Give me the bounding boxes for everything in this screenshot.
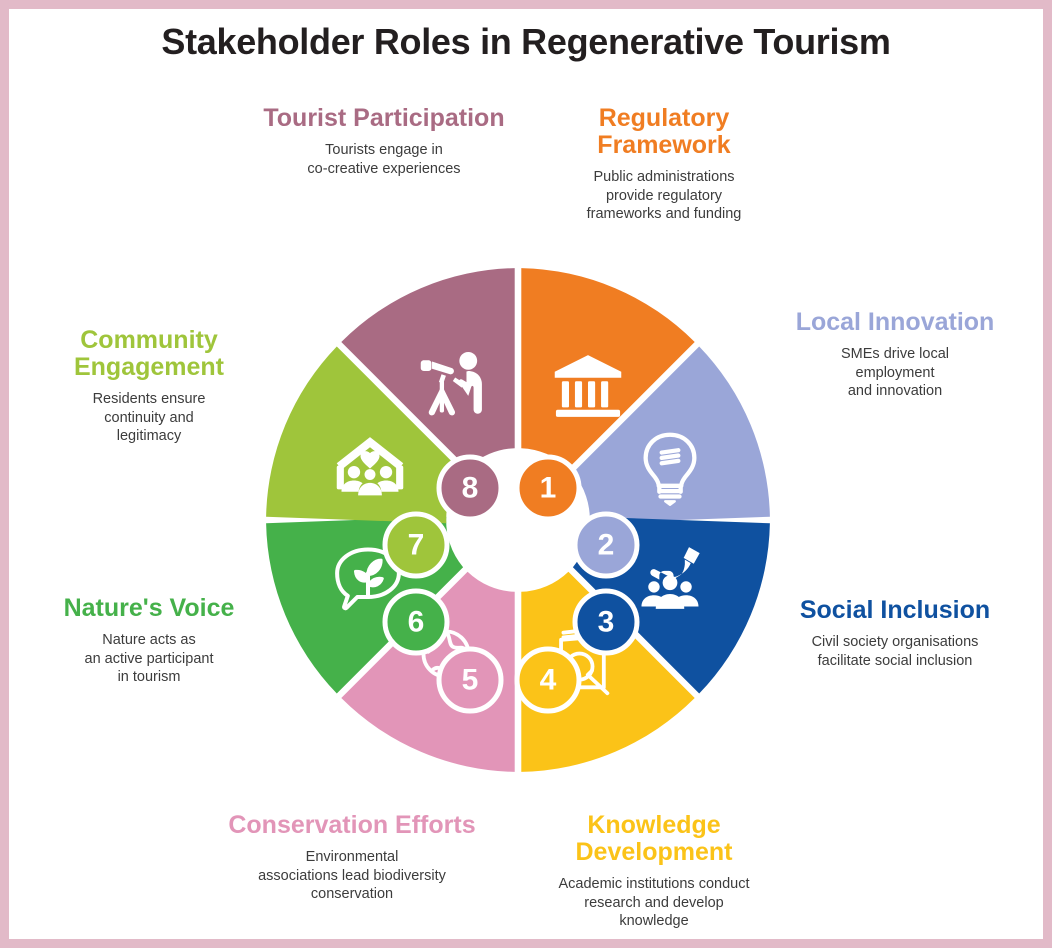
badge-5[interactable]: 5 <box>439 649 501 711</box>
badge-6[interactable]: 6 <box>385 591 447 653</box>
label-tourist-participation: Tourist Participation Tourists engage in… <box>259 105 509 178</box>
label-title: Tourist Participation <box>259 105 509 132</box>
desc-line: Tourists engage in <box>259 141 509 160</box>
desc-line: provide regulatory <box>544 187 784 206</box>
label-conservation-efforts: Conservation Efforts Environmental assoc… <box>227 812 477 904</box>
label-description: Tourists engage in co-creative experienc… <box>259 141 509 178</box>
label-social-inclusion: Social Inclusion Civil society organisat… <box>775 597 1015 670</box>
label-title: Regulatory Framework <box>544 105 784 159</box>
desc-line: co-creative experiences <box>259 160 509 179</box>
wheel-wedges <box>266 268 770 772</box>
label-description: Environmental associations lead biodiver… <box>227 848 477 904</box>
desc-line: Academic institutions conduct <box>529 875 779 894</box>
badge-number: 6 <box>408 606 425 639</box>
infographic-canvas: Stakeholder Roles in Regenerative Touris… <box>9 9 1043 939</box>
desc-line: facilitate social inclusion <box>775 652 1015 671</box>
badge-8[interactable]: 8 <box>439 457 501 519</box>
desc-line: and innovation <box>775 382 1015 401</box>
label-title: Social Inclusion <box>775 597 1015 624</box>
label-regulatory-framework: Regulatory Framework Public administrati… <box>544 105 784 224</box>
label-title: Knowledge Development <box>529 812 779 866</box>
desc-line: SMEs drive local <box>775 345 1015 364</box>
desc-line: Environmental <box>227 848 477 867</box>
desc-line: conservation <box>227 885 477 904</box>
desc-line: Public administrations <box>544 168 784 187</box>
desc-line: frameworks and funding <box>544 205 784 224</box>
desc-line: associations lead biodiversity <box>227 867 477 886</box>
badge-1[interactable]: 1 <box>517 457 579 519</box>
badge-number: 3 <box>598 606 615 639</box>
label-local-innovation: Local Innovation SMEs drive local employ… <box>775 309 1015 401</box>
badge-3[interactable]: 3 <box>575 591 637 653</box>
badge-number: 4 <box>540 664 557 697</box>
desc-line: knowledge <box>529 912 779 931</box>
label-description: Civil society organisations facilitate s… <box>775 633 1015 670</box>
desc-line: Civil society organisations <box>775 633 1015 652</box>
badge-number: 5 <box>462 664 479 697</box>
label-description: Academic institutions conduct research a… <box>529 875 779 931</box>
badge-number: 8 <box>462 472 479 505</box>
label-title: Local Innovation <box>775 309 1015 336</box>
desc-line: research and develop <box>529 894 779 913</box>
desc-line: employment <box>775 364 1015 383</box>
label-title: Conservation Efforts <box>227 812 477 839</box>
label-description: SMEs drive local employment and innovati… <box>775 345 1015 401</box>
stakeholder-wheel: 1 2 3 4 5 <box>228 230 808 810</box>
badge-7[interactable]: 7 <box>385 514 447 576</box>
badge-4[interactable]: 4 <box>517 649 579 711</box>
badge-number: 7 <box>408 529 425 562</box>
badge-number: 2 <box>598 529 615 562</box>
badge-number: 1 <box>540 472 557 505</box>
label-knowledge-development: Knowledge Development Academic instituti… <box>529 812 779 931</box>
label-description: Public administrations provide regulator… <box>544 168 784 224</box>
page-title: Stakeholder Roles in Regenerative Touris… <box>9 21 1043 63</box>
badge-2[interactable]: 2 <box>575 514 637 576</box>
